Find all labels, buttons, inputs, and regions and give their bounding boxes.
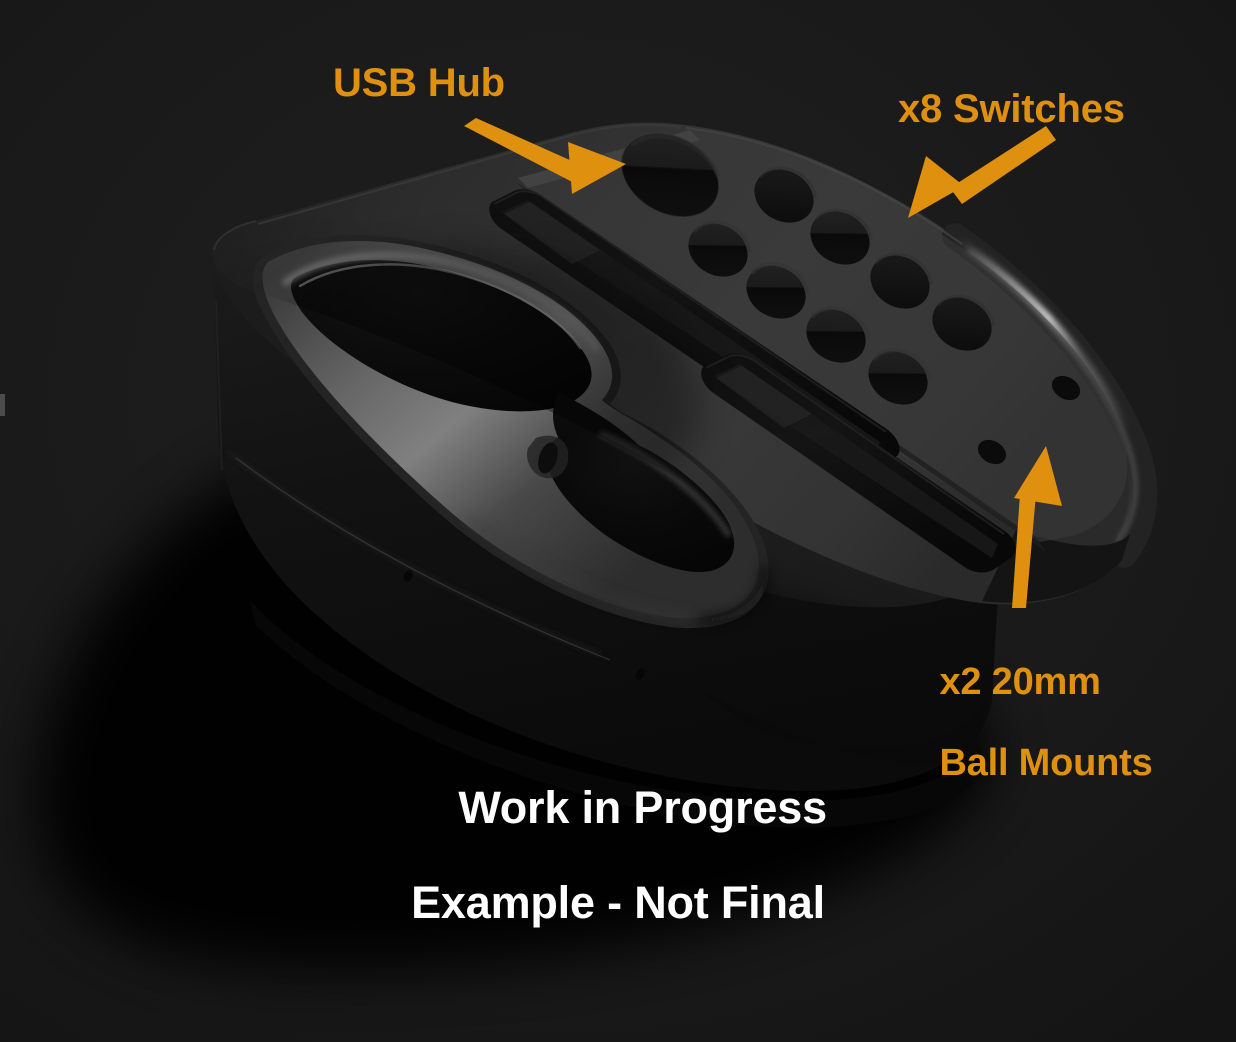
label-switches: x8 Switches	[898, 88, 1125, 130]
watermark-line1: Work in Progress	[458, 782, 827, 833]
label-usb-hub: USB Hub	[333, 62, 505, 104]
left-edge-sliver	[0, 394, 5, 416]
render-canvas: USB Hub x8 Switches x2 20mm Ball Mounts …	[0, 0, 1236, 1042]
watermark-notice: Work in Progress Example - Not Final	[0, 736, 1236, 1022]
watermark-line2: Example - Not Final	[0, 879, 1236, 927]
label-ball-mounts-line1: x2 20mm	[939, 661, 1100, 703]
